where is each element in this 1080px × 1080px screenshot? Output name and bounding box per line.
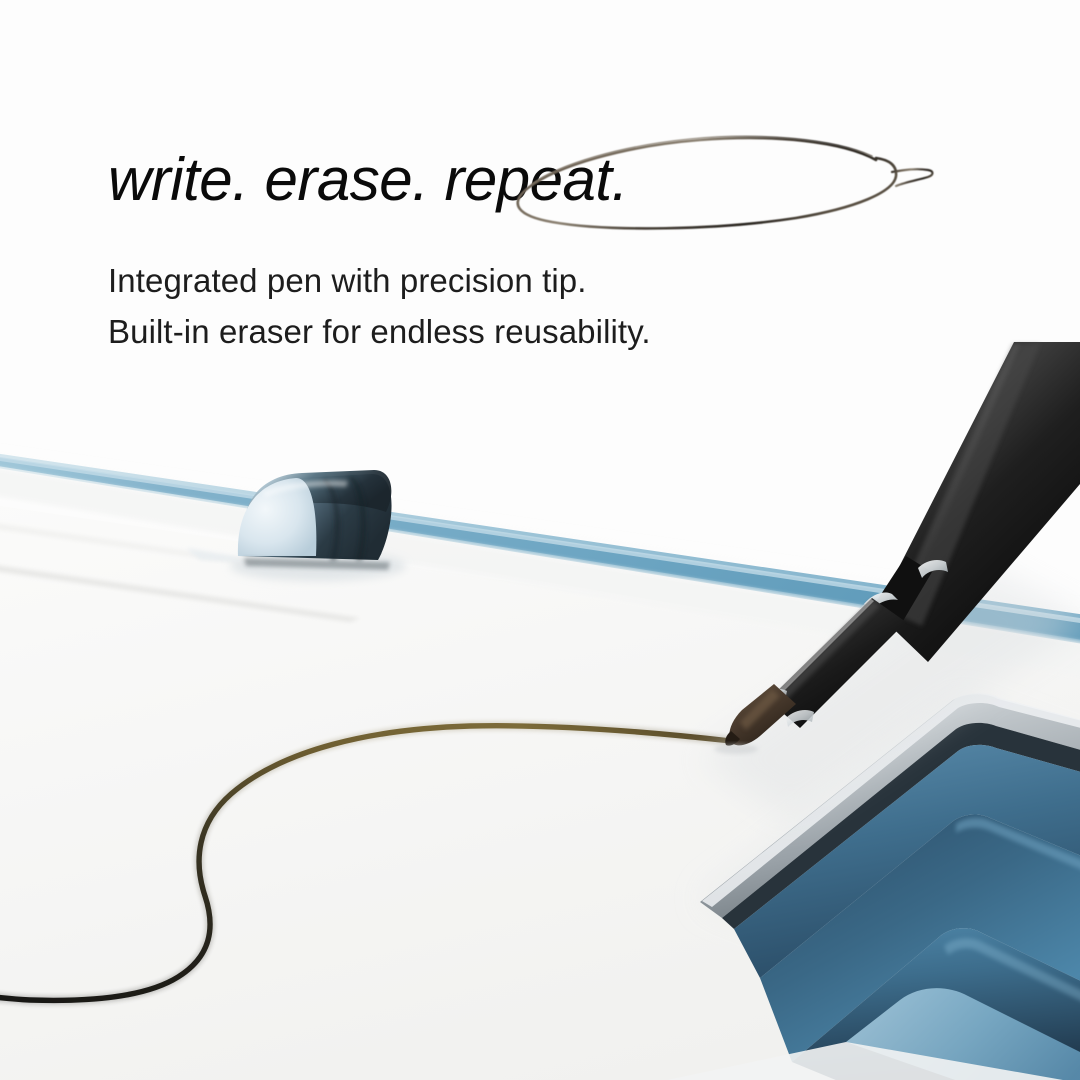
- product-photo-scene: [0, 0, 1080, 1080]
- pen-contact-shadow: [714, 744, 758, 754]
- product-hero-canvas: write. erase. repeat.: [0, 0, 1080, 1080]
